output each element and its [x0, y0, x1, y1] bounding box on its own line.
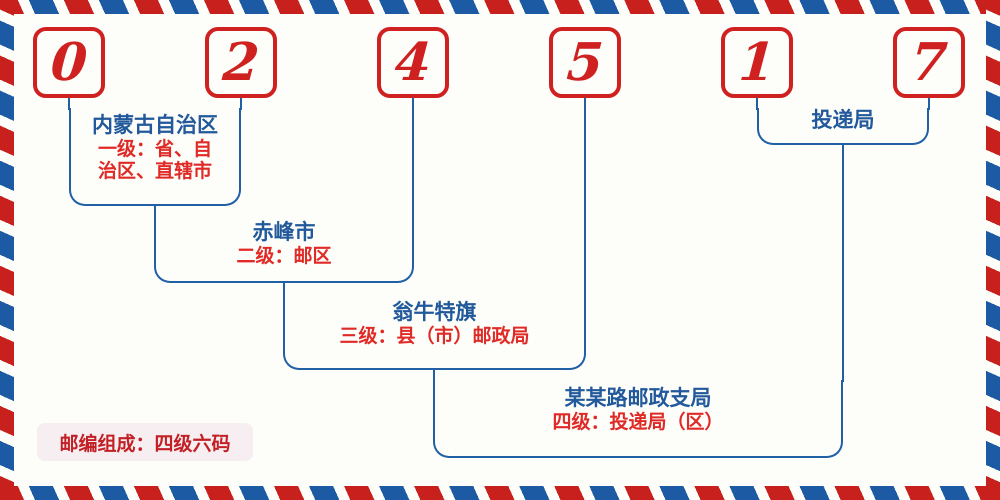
postcode-composition-badge: 邮编组成：四级六码	[37, 423, 253, 461]
postcode-digit-1: 0	[33, 27, 105, 98]
postcode-digit-3: 4	[377, 27, 449, 98]
level-4-subtitle: 四级：投递局（区）	[433, 411, 843, 433]
airmail-border-right	[986, 0, 1000, 500]
label-level-4: 某某路邮政支局 四级：投递局（区）	[433, 386, 843, 433]
postcode-digit-4: 5	[549, 27, 621, 98]
postcode-composition-text: 邮编组成：四级六码	[59, 429, 230, 456]
level-4-title: 某某路邮政支局	[433, 386, 843, 411]
airmail-border-bottom	[0, 486, 1000, 500]
digit-glyph: 2	[221, 37, 261, 89]
airmail-border-top	[0, 0, 1000, 14]
label-delivery-office: 投递局	[757, 108, 929, 133]
label-level-3: 翁牛特旗 三级：县（市）邮政局	[283, 300, 586, 347]
stem-delivery-office-group	[842, 145, 844, 382]
airmail-border-left	[0, 0, 14, 500]
postcode-digit-2: 2	[205, 27, 277, 98]
envelope-diagram: 0 2 4 5 1 7 内蒙古自治区 一级：省、自 治区、直辖市 赤峰市 二级：…	[0, 0, 1000, 500]
stem-digit-4	[584, 98, 586, 295]
level-2-title: 赤峰市	[154, 220, 414, 245]
postcode-digit-6: 7	[893, 27, 965, 98]
delivery-office-label: 投递局	[757, 108, 929, 133]
level-1-subtitle-line2: 治区、直辖市	[69, 160, 241, 182]
postcode-digit-5: 1	[721, 27, 793, 98]
level-3-subtitle: 三级：县（市）邮政局	[283, 325, 586, 347]
level-1-subtitle-line1: 一级：省、自	[69, 138, 241, 160]
level-3-title: 翁牛特旗	[283, 300, 586, 325]
digit-glyph: 7	[909, 37, 949, 89]
level-2-subtitle: 二级：邮区	[154, 245, 414, 267]
digit-glyph: 4	[393, 37, 433, 89]
digit-glyph: 0	[49, 37, 89, 89]
label-level-2: 赤峰市 二级：邮区	[154, 220, 414, 267]
level-1-title: 内蒙古自治区	[69, 113, 241, 138]
label-level-1: 内蒙古自治区 一级：省、自 治区、直辖市	[69, 113, 241, 183]
digit-glyph: 1	[737, 37, 777, 89]
digit-glyph: 5	[565, 37, 605, 89]
stem-digit-3	[412, 98, 414, 218]
